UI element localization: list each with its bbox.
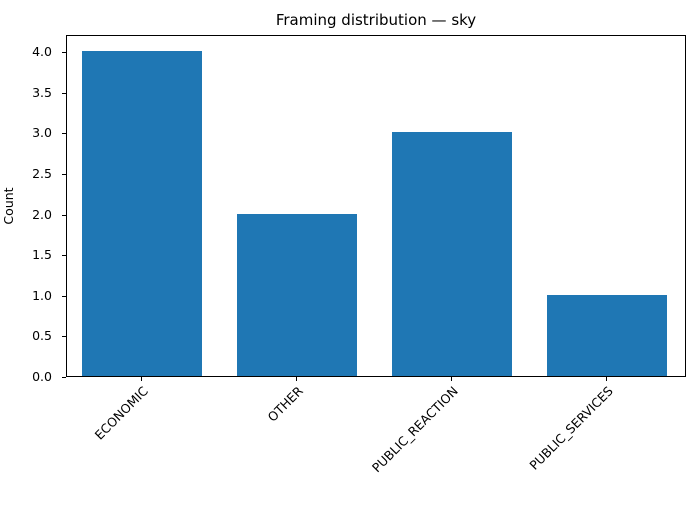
bar-public-reaction[interactable]: [392, 132, 512, 376]
x-tick-label-text: PUBLIC_REACTION: [370, 384, 461, 475]
x-tick-mark: [606, 377, 607, 381]
plot-area: [66, 35, 686, 377]
y-tick-label: 4.0: [32, 45, 52, 59]
bar-other[interactable]: [237, 214, 357, 377]
y-axis-label: Count: [2, 176, 16, 236]
x-axis: ECONOMICOTHERPUBLIC_REACTIONPUBLIC_SERVI…: [0, 377, 700, 500]
y-tick-label: 2.0: [32, 208, 52, 222]
bar-public-services[interactable]: [547, 295, 667, 376]
x-tick-label-public-services: PUBLIC_SERVICES: [486, 384, 616, 514]
chart-title: Framing distribution — sky: [66, 11, 686, 29]
x-tick-label-other: OTHER: [176, 384, 306, 514]
y-tick-label: 3.5: [32, 86, 52, 100]
x-tick-mark: [296, 377, 297, 381]
x-tick-label-public-reaction: PUBLIC_REACTION: [331, 384, 461, 514]
bars-layer: [67, 36, 685, 376]
y-tick-label: 0.5: [32, 329, 52, 343]
y-tick-label: 3.0: [32, 126, 52, 140]
x-tick-label-economic: ECONOMIC: [21, 384, 151, 514]
x-tick-label-text: OTHER: [265, 384, 306, 425]
chart-figure: Framing distribution — sky 0.00.51.01.52…: [0, 0, 700, 500]
x-tick-label-text: ECONOMIC: [92, 384, 151, 443]
x-tick-mark: [141, 377, 142, 381]
x-tick-label-text: PUBLIC_SERVICES: [527, 384, 616, 473]
y-tick-label: 1.0: [32, 289, 52, 303]
y-tick-label: 2.5: [32, 167, 52, 181]
y-tick-label: 1.5: [32, 248, 52, 262]
x-tick-mark: [451, 377, 452, 381]
bar-economic[interactable]: [82, 51, 202, 376]
